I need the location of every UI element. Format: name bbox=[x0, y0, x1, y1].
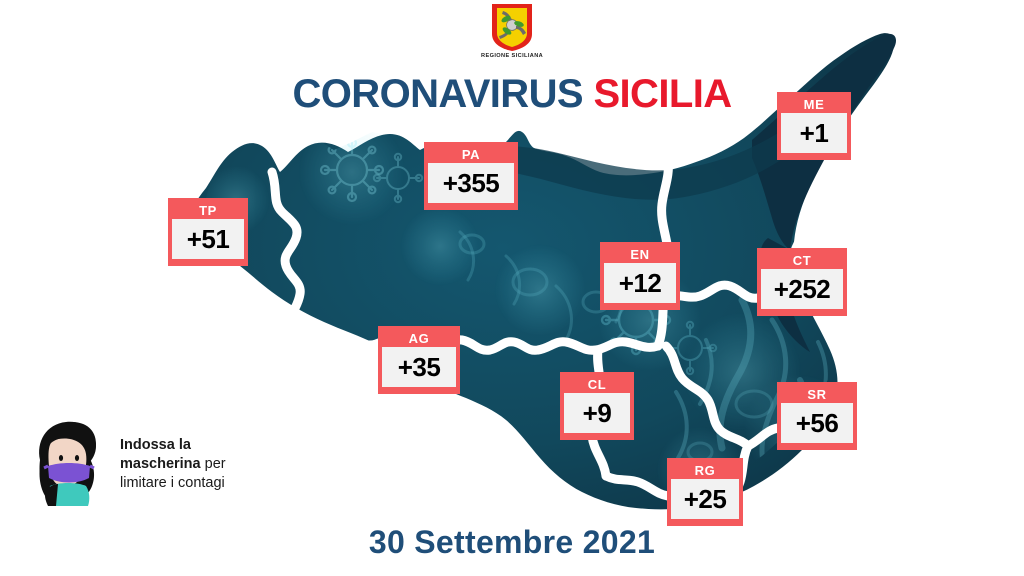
province-code-me: ME bbox=[781, 96, 847, 113]
province-box-ct[interactable]: CT +252 bbox=[757, 248, 847, 316]
infographic-root: REGIONE SICILIANA CORONAVIRUS SICILIA TP… bbox=[0, 0, 1024, 576]
trinacria-icon bbox=[489, 2, 535, 52]
emblem-caption: REGIONE SICILIANA bbox=[481, 53, 543, 59]
province-code-en: EN bbox=[604, 246, 676, 263]
province-box-cl[interactable]: CL +9 bbox=[560, 372, 634, 440]
province-box-en[interactable]: EN +12 bbox=[600, 242, 680, 310]
province-box-sr[interactable]: SR +56 bbox=[777, 382, 857, 450]
province-value-tp: +51 bbox=[172, 219, 244, 259]
province-box-pa[interactable]: PA +355 bbox=[424, 142, 518, 210]
province-value-pa: +355 bbox=[428, 163, 514, 203]
title-coronavirus: CORONAVIRUS bbox=[293, 72, 583, 116]
province-value-ct: +252 bbox=[761, 269, 843, 309]
province-value-ag: +35 bbox=[382, 347, 456, 387]
province-value-cl: +9 bbox=[564, 393, 630, 433]
page-title: CORONAVIRUS SICILIA bbox=[0, 74, 1024, 114]
province-code-pa: PA bbox=[428, 146, 514, 163]
title-sicilia: SICILIA bbox=[593, 72, 731, 116]
regione-siciliana-emblem: REGIONE SICILIANA bbox=[481, 2, 543, 64]
province-box-rg[interactable]: RG +25 bbox=[667, 458, 743, 526]
mask-line2-rest: per bbox=[201, 456, 226, 472]
province-value-en: +12 bbox=[604, 263, 676, 303]
mask-line3: limitare i contagi bbox=[120, 475, 225, 491]
mask-line1: Indossa la bbox=[120, 437, 191, 453]
province-box-ag[interactable]: AG +35 bbox=[378, 326, 460, 394]
province-code-ct: CT bbox=[761, 252, 843, 269]
province-code-sr: SR bbox=[781, 386, 853, 403]
province-code-ag: AG bbox=[382, 330, 456, 347]
province-code-cl: CL bbox=[564, 376, 630, 393]
province-code-tp: TP bbox=[172, 202, 244, 219]
province-value-rg: +25 bbox=[671, 479, 739, 519]
mask-line2-bold: mascherina bbox=[120, 456, 201, 472]
province-code-rg: RG bbox=[671, 462, 739, 479]
province-box-tp[interactable]: TP +51 bbox=[168, 198, 248, 266]
woman-wearing-face-mask-icon bbox=[26, 416, 112, 508]
province-value-me: +1 bbox=[781, 113, 847, 153]
mask-notice-text: Indossa la mascherina per limitare i con… bbox=[120, 436, 300, 493]
mask-notice: Indossa la mascherina per limitare i con… bbox=[26, 416, 286, 512]
date-label: 30 Settembre 2021 bbox=[0, 524, 1024, 561]
province-value-sr: +56 bbox=[781, 403, 853, 443]
province-box-me[interactable]: ME +1 bbox=[777, 92, 851, 160]
